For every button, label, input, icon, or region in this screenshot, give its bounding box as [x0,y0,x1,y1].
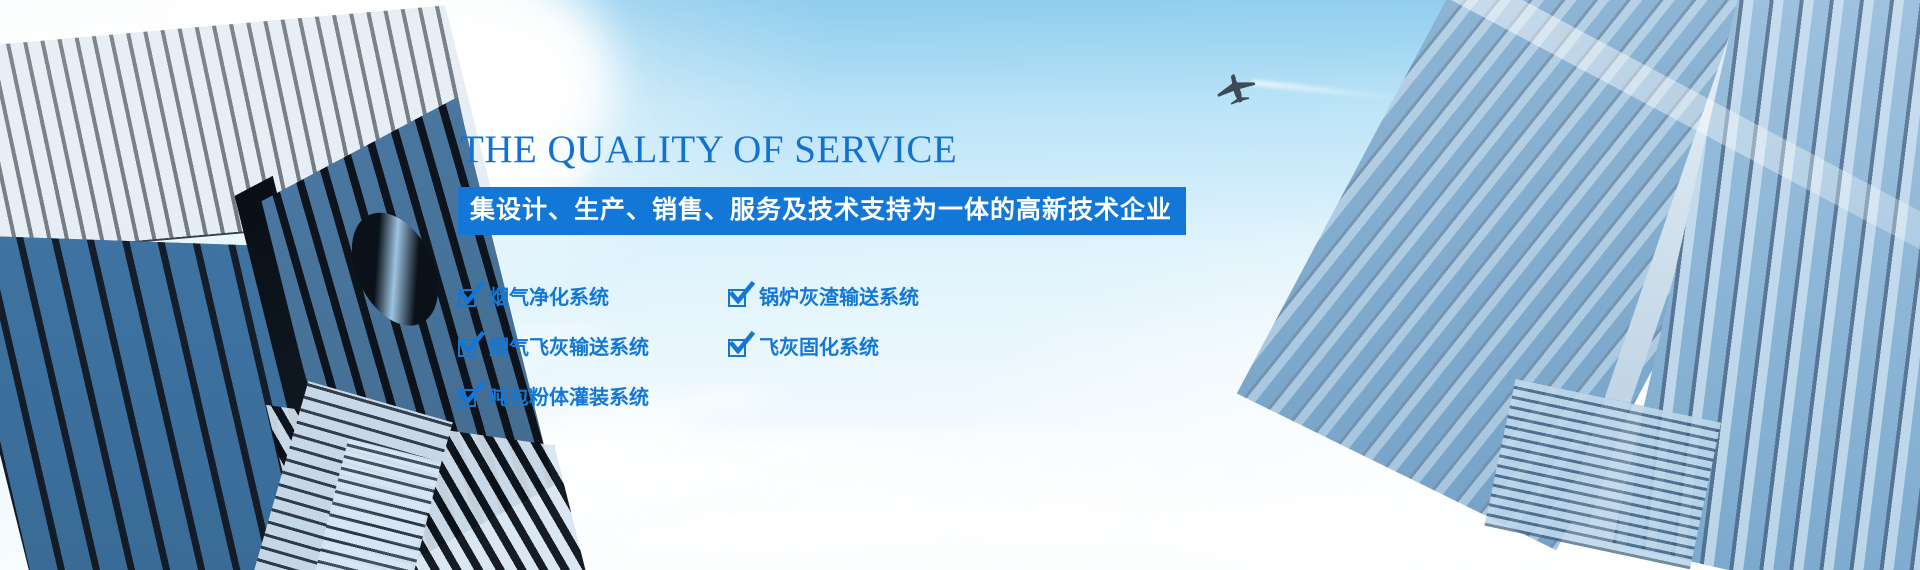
checkbox-checked-icon [458,289,476,307]
banner-tagline-bar: 集设计、生产、销售、服务及技术支持为一体的高新技术企业 [458,187,1186,235]
feature-item[interactable]: 锅炉灰渣输送系统 [728,288,998,308]
feature-label: 烟气净化系统 [489,288,609,308]
checkbox-checked-icon [728,289,746,307]
feature-item[interactable]: 烟气飞灰输送系统 [458,338,728,358]
feature-item[interactable]: 烟气净化系统 [458,288,728,308]
banner-content: THE QUALITY OF SERVICE 集设计、生产、销售、服务及技术支持… [458,128,1198,423]
checkbox-checked-icon [728,339,746,357]
feature-label: 飞灰固化系统 [759,338,879,358]
feature-item[interactable]: 吨包粉体灌装系统 [458,388,728,408]
feature-label: 锅炉灰渣输送系统 [759,288,919,308]
feature-item[interactable]: 飞灰固化系统 [728,338,998,358]
feature-label: 吨包粉体灌装系统 [489,388,649,408]
banner-headline: THE QUALITY OF SERVICE [458,128,1198,173]
hero-banner: THE QUALITY OF SERVICE 集设计、生产、销售、服务及技术支持… [0,0,1920,570]
feature-label: 烟气飞灰输送系统 [489,338,649,358]
checkbox-checked-icon [458,389,476,407]
feature-list: 烟气净化系统 锅炉灰渣输送系统 烟气飞灰输送系统 [458,273,1198,423]
checkbox-checked-icon [458,339,476,357]
